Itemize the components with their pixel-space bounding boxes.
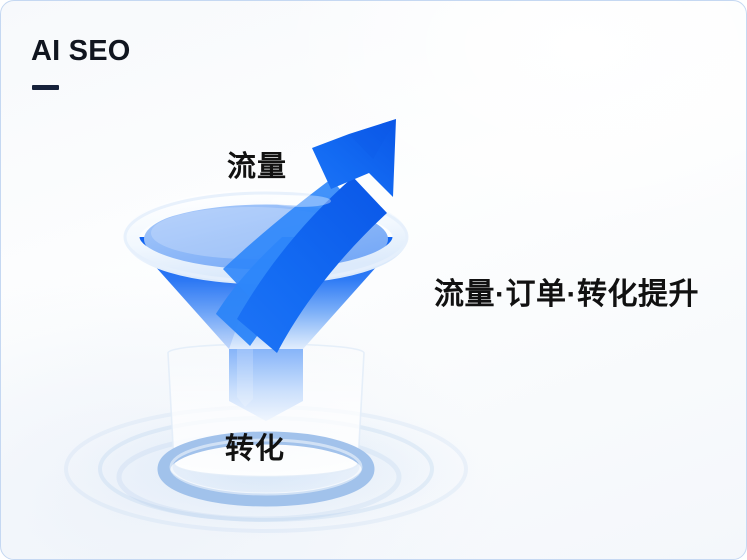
poster-canvas: AI SEO 流量 转化 流量·订单·转化提升 xyxy=(0,0,747,560)
label-traffic: 流量 xyxy=(227,153,287,182)
page-title: AI SEO xyxy=(31,37,131,66)
title-underline-rule xyxy=(32,85,59,90)
sparkle xyxy=(271,195,331,207)
tagline: 流量·订单·转化提升 xyxy=(434,280,699,310)
label-conversion: 转化 xyxy=(225,435,285,464)
